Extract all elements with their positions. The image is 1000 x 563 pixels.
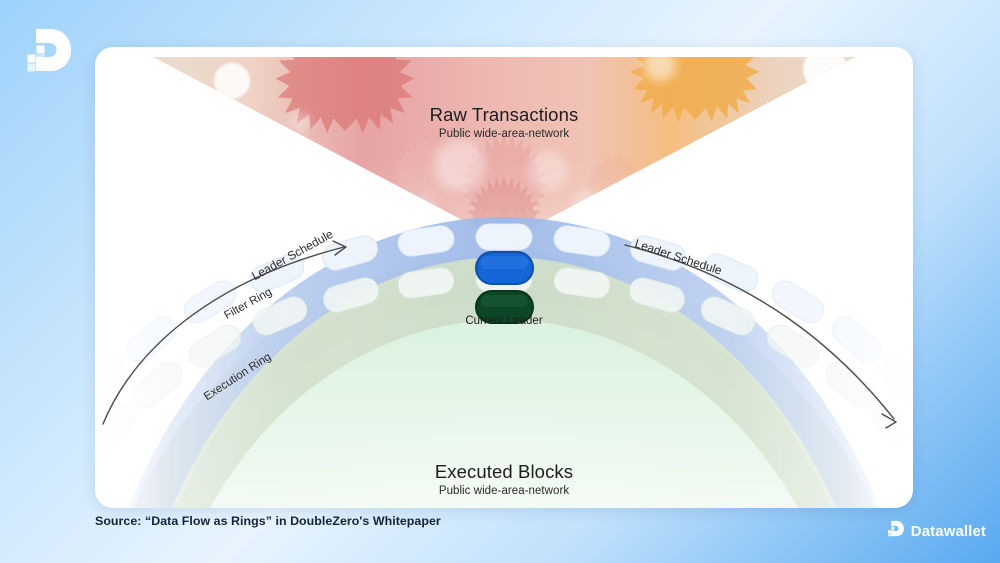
current-leader-filter-node (476, 252, 533, 284)
raw-transactions-title: Raw Transactions (95, 104, 913, 125)
executed-blocks-title: Executed Blocks (95, 461, 913, 482)
source-caption: Source: “Data Flow as Rings” in DoubleZe… (95, 514, 441, 528)
diagram-canvas: Raw Transactions Public wide-area-networ… (95, 47, 913, 508)
diagram-card: Raw Transactions Public wide-area-networ… (95, 47, 913, 508)
raw-transactions-subtitle: Public wide-area-network (95, 128, 913, 140)
datawallet-d-logo-icon (886, 519, 905, 543)
watermark-label: Datawallet (911, 523, 986, 540)
datawallet-d-logo-icon (22, 24, 74, 76)
executed-blocks-label-group: Executed Blocks Public wide-area-network (95, 461, 913, 497)
screenshot-stage: Raw Transactions Public wide-area-networ… (0, 0, 1000, 563)
raw-transactions-label-group: Raw Transactions Public wide-area-networ… (95, 104, 913, 140)
current-leader-label: Current Leader (95, 315, 913, 327)
executed-blocks-subtitle: Public wide-area-network (95, 485, 913, 497)
datawallet-watermark: Datawallet (886, 519, 986, 543)
